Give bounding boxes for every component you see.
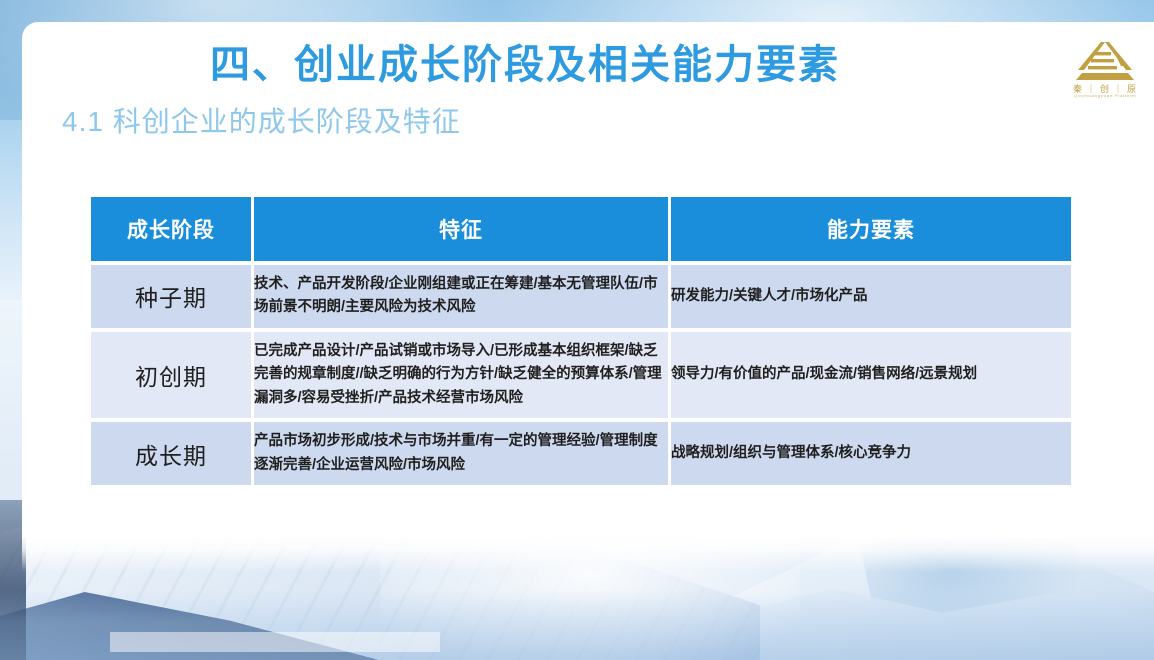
table-header-row: 成长阶段 特征 能力要素 (91, 197, 1071, 261)
brand-logo: 秦 ｜ 创 ｜ 原 Qinchuangyuan Platform (1068, 40, 1142, 102)
logo-latin-mark: Qinchuangyuan Platform (1068, 93, 1142, 97)
page-subtitle: 4.1 科创企业的成长阶段及特征 (62, 100, 461, 140)
column-header-abilities: 能力要素 (671, 197, 1071, 261)
cell-abilities: 战略规划/组织与管理体系/核心竞争力 (671, 422, 1071, 485)
cell-abilities: 领导力/有价值的产品/现金流/销售网络/远景规划 (671, 332, 1071, 418)
cell-stage: 成长期 (91, 422, 251, 485)
cell-stage: 种子期 (91, 265, 251, 328)
cell-stage: 初创期 (91, 332, 251, 418)
table-row: 初创期 已完成产品设计/产品试销或市场导入/已形成基本组织框架/缺乏完善的规章制… (91, 332, 1071, 418)
presentation-slide: 四、创业成长阶段及相关能力要素 4.1 科创企业的成长阶段及特征 秦 ｜ 创 ｜… (0, 0, 1154, 660)
cell-features: 已完成产品设计/产品试销或市场导入/已形成基本组织框架/缺乏完善的规章制度//缺… (254, 332, 668, 418)
cell-abilities: 研发能力/关键人才/市场化产品 (671, 265, 1071, 328)
growth-stage-table: 成长阶段 特征 能力要素 种子期 技术、产品开发阶段/企业刚组建或正在筹建/基本… (88, 193, 1074, 489)
page-title: 四、创业成长阶段及相关能力要素 (0, 32, 1050, 90)
column-header-stage: 成长阶段 (91, 197, 251, 261)
table-row: 种子期 技术、产品开发阶段/企业刚组建或正在筹建/基本无管理队伍/市场前景不明朗… (91, 265, 1071, 328)
cell-features: 产品市场初步形成/技术与市场并重/有一定的管理经验/管理制度逐渐完善/企业运营风… (254, 422, 668, 485)
column-header-features: 特征 (254, 197, 668, 261)
table-row: 成长期 产品市场初步形成/技术与市场并重/有一定的管理经验/管理制度逐渐完善/企… (91, 422, 1071, 485)
cell-features: 技术、产品开发阶段/企业刚组建或正在筹建/基本无管理队伍/市场前景不明朗/主要风… (254, 265, 668, 328)
bottom-light-band (110, 632, 440, 652)
